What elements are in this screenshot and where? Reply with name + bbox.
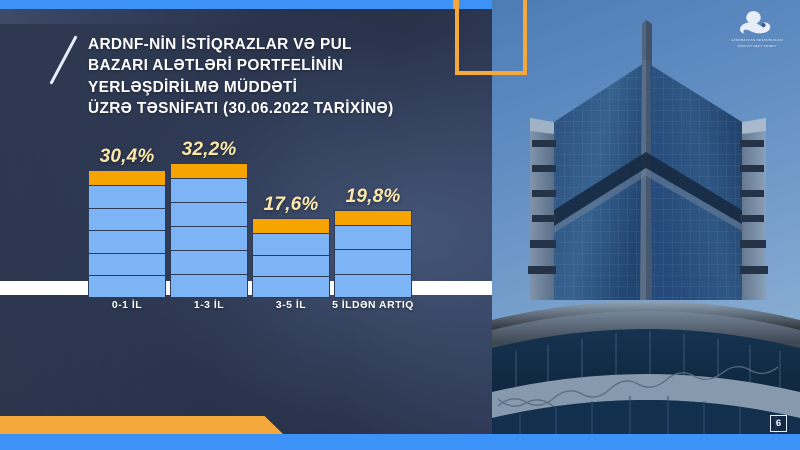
bar-segment-top (252, 218, 330, 233)
bottom-blue-bar (0, 434, 800, 450)
bar (88, 170, 166, 298)
category-label: 5 İLDƏN ARTIQ (320, 300, 426, 311)
bar-segment-top (334, 210, 412, 225)
baseline-passthrough (170, 281, 248, 295)
bar-segment (170, 250, 248, 274)
bar-segment (88, 253, 166, 276)
top-blue-bar (0, 0, 492, 9)
bar-segment (88, 230, 166, 253)
bar-value-label: 19,8% (346, 186, 401, 208)
bar-segment-top (88, 170, 166, 185)
baseline-passthrough (252, 281, 330, 295)
title-line-1: ARDNF-NİN İSTİQRAZLAR VƏ PUL (88, 34, 448, 55)
bar-segment-top (170, 163, 248, 178)
category-axis-labels: 0-1 İL1-3 İL3-5 İL5 İLDƏN ARTIQ (0, 300, 492, 322)
building-photo (492, 0, 800, 450)
bottom-orange-shape (0, 416, 283, 434)
sofaz-emblem-icon (722, 10, 792, 36)
bar-group: 32,2% (170, 163, 248, 298)
baseline-passthrough (88, 281, 166, 295)
bar-segment (334, 249, 412, 273)
orange-bracket-accent (455, 0, 527, 75)
bar-group: 30,4% (88, 170, 166, 298)
bar-chart: 30,4%32,2%17,6%19,8% (0, 150, 492, 325)
title-line-3: YERLƏŞDİRİLMƏ MÜDDƏTİ (88, 77, 448, 98)
bar-segment (170, 178, 248, 202)
bar-value-label: 30,4% (100, 146, 155, 168)
presentation-slide: AZƏRBAYCAN RESPUBLİKASI DÖVLƏT NEFT FOND… (0, 0, 800, 450)
bar-segment (252, 255, 330, 277)
bar-segment (170, 226, 248, 250)
page-number-badge: 6 (770, 415, 787, 432)
bar-segment (170, 202, 248, 226)
page-title: ARDNF-NİN İSTİQRAZLAR VƏ PUL BAZARI ALƏT… (88, 34, 448, 120)
title-line-4: ÜZRƏ TƏSNİFATI (30.06.2022 TARİXİNƏ) (88, 98, 448, 119)
bar-segment (334, 225, 412, 249)
bar-segment (252, 233, 330, 255)
title-line-2: BAZARI ALƏTLƏRİ PORTFELİNİN (88, 55, 448, 76)
logo-text-line2: DÖVLƏT NEFT FONDU (722, 44, 792, 48)
bar-series: 30,4%32,2%17,6%19,8% (0, 150, 492, 298)
logo: AZƏRBAYCAN RESPUBLİKASI DÖVLƏT NEFT FOND… (722, 10, 792, 54)
bar-value-label: 17,6% (264, 194, 319, 216)
bar-value-label: 32,2% (182, 139, 237, 161)
bar-segment (88, 185, 166, 208)
logo-text-line1: AZƏRBAYCAN RESPUBLİKASI (722, 38, 792, 42)
baseline-passthrough (334, 281, 412, 295)
bar-segment (88, 208, 166, 231)
bar (170, 163, 248, 298)
